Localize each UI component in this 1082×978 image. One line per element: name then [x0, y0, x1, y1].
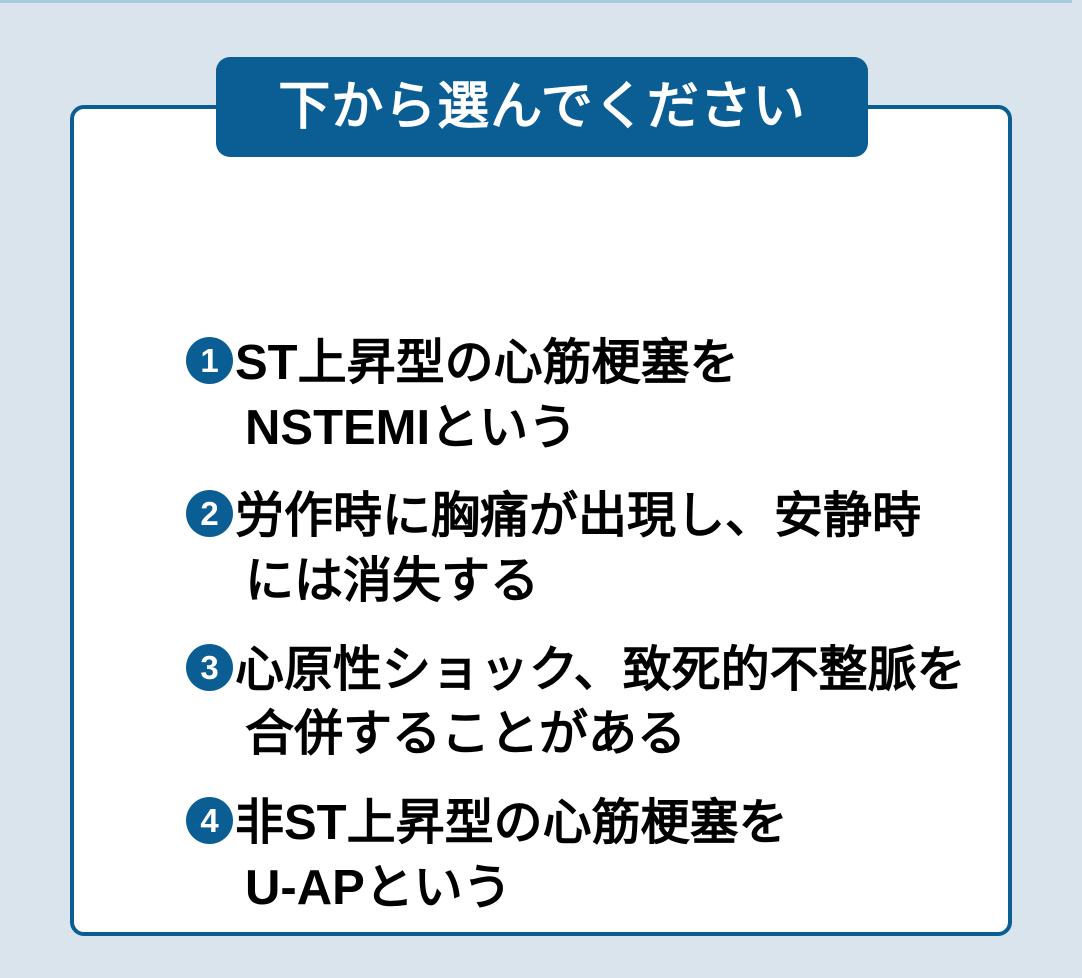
quiz-card: 1 ST上昇型の心筋梗塞をNSTEMIという 2 労作時に胸痛が出現し、安静時に… [70, 105, 1012, 936]
list-item[interactable]: 1 ST上昇型の心筋梗塞をNSTEMIという [186, 331, 1066, 460]
list-item[interactable]: 2 労作時に胸痛が出現し、安静時には消失する [186, 484, 1066, 613]
top-accent-rule [0, 0, 1072, 3]
header-badge-label: 下から選んでください [278, 81, 805, 133]
option-line-2: 合併することがある [235, 702, 1066, 767]
option-line-1: 心原性ショック、致死的不整脈を [235, 643, 966, 697]
options-list: 1 ST上昇型の心筋梗塞をNSTEMIという 2 労作時に胸痛が出現し、安静時に… [186, 331, 1066, 944]
option-line-2: U-APという [235, 856, 1066, 921]
option-text-3: 心原性ショック、致死的不整脈を合併することがある [233, 638, 1066, 767]
option-text-1: ST上昇型の心筋梗塞をNSTEMIという [233, 331, 1066, 460]
option-line-1: 労作時に胸痛が出現し、安静時 [235, 489, 921, 543]
option-marker-1: 1 [186, 337, 233, 384]
option-text-4: 非ST上昇型の心筋梗塞をU-APという [233, 791, 1066, 920]
option-marker-4: 4 [186, 797, 233, 844]
list-item[interactable]: 4 非ST上昇型の心筋梗塞をU-APという [186, 791, 1066, 920]
option-marker-3: 3 [186, 644, 233, 691]
option-text-2: 労作時に胸痛が出現し、安静時には消失する [233, 484, 1066, 613]
option-line-1: ST上昇型の心筋梗塞を [235, 336, 739, 390]
list-item[interactable]: 3 心原性ショック、致死的不整脈を合併することがある [186, 638, 1066, 767]
option-line-2: には消失する [235, 549, 1066, 614]
option-line-1: 非ST上昇型の心筋梗塞を [235, 796, 788, 850]
header-badge: 下から選んでください [216, 57, 868, 157]
option-line-2: NSTEMIという [235, 396, 1066, 461]
option-marker-2: 2 [186, 490, 233, 537]
